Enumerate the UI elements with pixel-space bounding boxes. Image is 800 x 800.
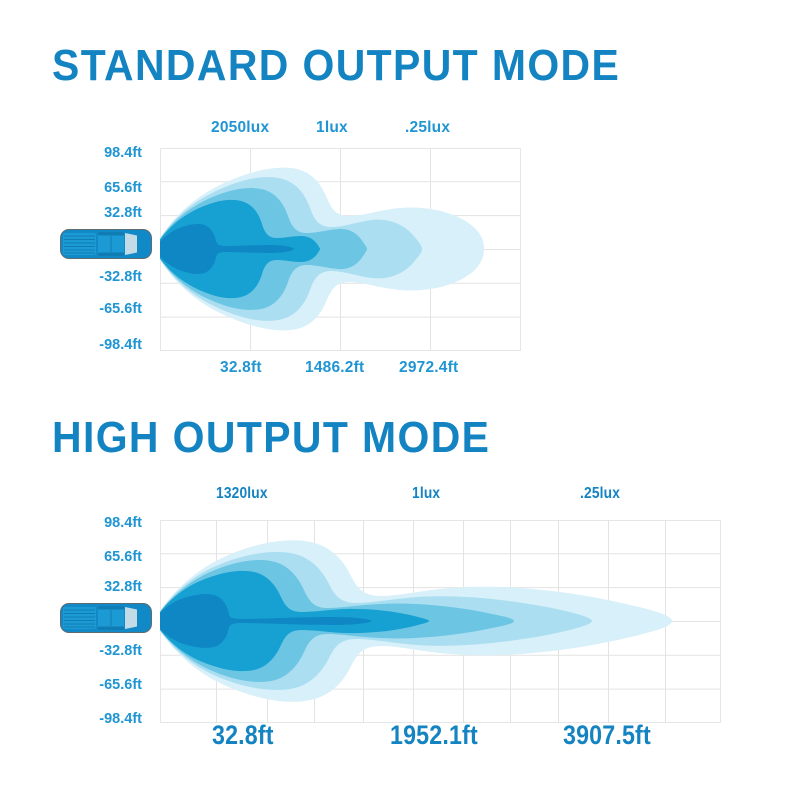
lux-label-standard-3: .25lux — [405, 120, 450, 136]
page-title-standard: STANDARD OUTPUT MODE — [52, 44, 620, 88]
distance-label-standard-1: 32.8ft — [220, 360, 262, 376]
lux-label-high-2: 1lux — [412, 486, 440, 502]
beam-pattern-svg-high — [160, 520, 722, 724]
chart-high-output-mode: HIGH OUTPUT MODE 1320lux 1lux .25lux 98.… — [0, 400, 800, 800]
vehicle-icon-standard — [57, 222, 155, 271]
y-label-standard-6: -98.4ft — [45, 338, 142, 353]
y-label-high-2: 65.6ft — [52, 550, 142, 565]
beam-pattern-svg-standard — [160, 148, 522, 352]
y-label-high-5: -65.6ft — [45, 678, 142, 693]
lux-label-high-3: .25lux — [580, 486, 620, 502]
y-label-standard-3: 32.8ft — [52, 206, 142, 221]
distance-label-high-2: 1952.1ft — [390, 722, 478, 749]
page-root: STANDARD OUTPUT MODE 2050lux 1lux .25lux… — [0, 0, 800, 800]
page-title-high: HIGH OUTPUT MODE — [52, 416, 490, 460]
plot-area-standard — [160, 148, 522, 352]
chart-standard-output-mode: STANDARD OUTPUT MODE 2050lux 1lux .25lux… — [0, 0, 800, 400]
lux-label-standard-2: 1lux — [316, 120, 348, 136]
y-label-standard-2: 65.6ft — [52, 181, 142, 196]
pickup-truck-top-view-icon — [57, 222, 155, 266]
lux-label-standard-1: 2050lux — [211, 120, 269, 136]
y-label-high-6: -98.4ft — [45, 712, 142, 727]
lux-label-high-1: 1320lux — [216, 486, 268, 502]
y-label-high-1: 98.4ft — [52, 516, 142, 531]
vehicle-icon-high — [57, 596, 155, 645]
y-label-standard-4: -32.8ft — [45, 270, 142, 285]
y-label-high-3: 32.8ft — [52, 580, 142, 595]
y-label-standard-5: -65.6ft — [45, 302, 142, 317]
y-label-high-4: -32.8ft — [45, 644, 142, 659]
distance-label-standard-3: 2972.4ft — [399, 360, 458, 376]
y-label-standard-1: 98.4ft — [52, 146, 142, 161]
plot-area-high — [160, 520, 722, 724]
distance-label-high-1: 32.8ft — [212, 722, 274, 749]
distance-label-high-3: 3907.5ft — [563, 722, 651, 749]
pickup-truck-top-view-icon-high — [57, 596, 155, 640]
distance-label-standard-2: 1486.2ft — [305, 360, 364, 376]
